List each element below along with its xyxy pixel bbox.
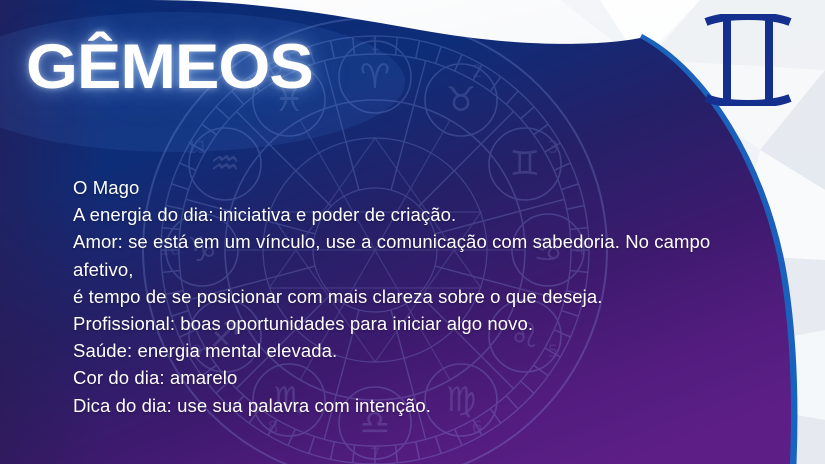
horoscope-line: Cor do dia: amarelo bbox=[73, 364, 773, 391]
svg-text:3: 3 bbox=[548, 138, 559, 158]
svg-text:7: 7 bbox=[370, 445, 381, 464]
svg-text:8: 8 bbox=[268, 418, 279, 438]
svg-text:6: 6 bbox=[472, 418, 483, 438]
page-title: GÊMEOS bbox=[26, 36, 313, 99]
horoscope-line: Amor: se está em um vínculo, use a comun… bbox=[73, 228, 773, 282]
horoscope-line: Saúde: energia mental elevada. bbox=[73, 337, 773, 364]
horoscope-line: Dica do dia: use sua palavra com intençã… bbox=[73, 392, 773, 419]
horoscope-line: Profissional: boas oportunidades para in… bbox=[73, 310, 773, 337]
horoscope-card: ♈ ♉ ♊ ♋ ♌ ♍ ♎ ♏ ♐ ♑ ♒ ♓ bbox=[0, 0, 825, 464]
horoscope-line: é tempo de se posicionar com mais clarez… bbox=[73, 283, 773, 310]
horoscope-line: O Mago bbox=[73, 174, 773, 201]
gemini-glyph-icon bbox=[700, 14, 796, 106]
horoscope-text-block: O Mago A energia do dia: iniciativa e po… bbox=[73, 174, 773, 419]
svg-text:♉: ♉ bbox=[446, 80, 476, 120]
svg-text:2: 2 bbox=[472, 62, 483, 82]
horoscope-line: A energia do dia: iniciativa e poder de … bbox=[73, 201, 773, 228]
